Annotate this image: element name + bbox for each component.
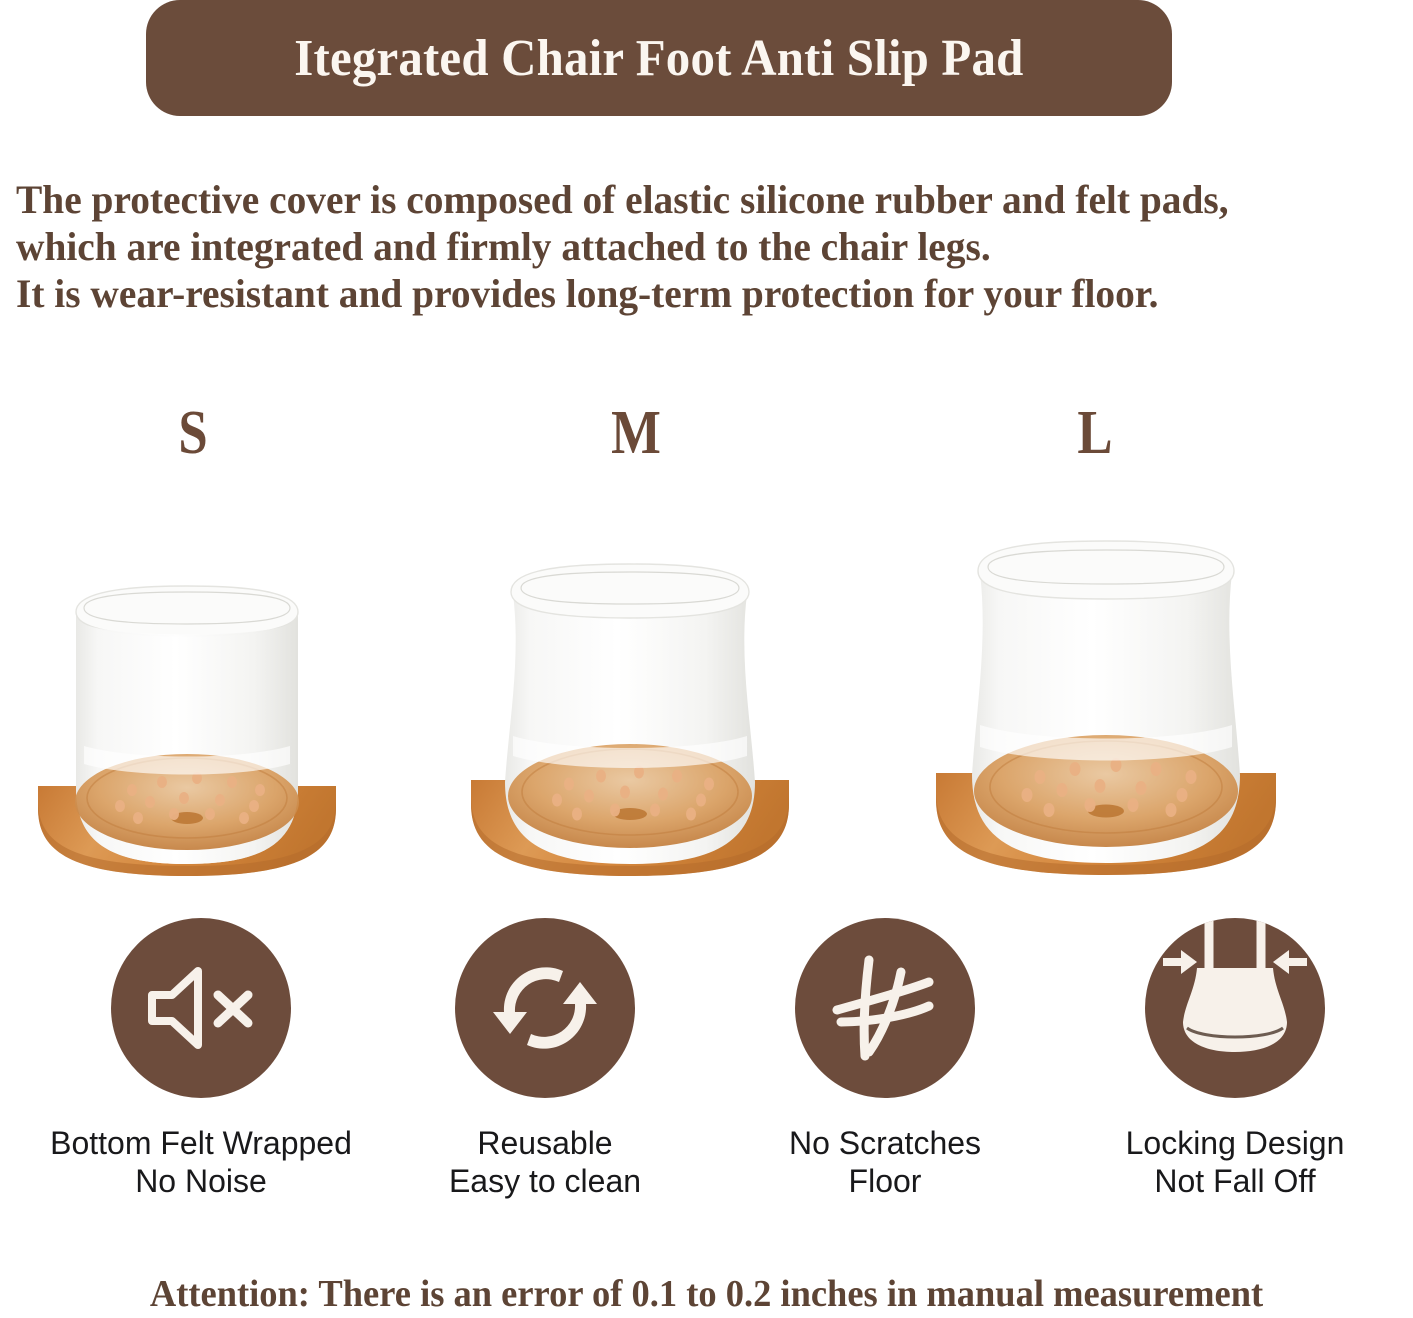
- feature-circle-1: [455, 918, 635, 1098]
- description-line-3: It is wear-resistant and provides long-t…: [16, 270, 1385, 317]
- feature-label-3-line1: Locking Design: [1080, 1124, 1390, 1162]
- feature-circle-3: [1145, 918, 1325, 1098]
- feature-label-1-line1: Reusable: [400, 1124, 690, 1162]
- product-image-row: [0, 480, 1413, 890]
- feature-icon-row: Bottom Felt Wrapped No Noise Reusable Ea…: [0, 918, 1413, 1218]
- locking-grip-icon: [1145, 918, 1325, 1098]
- recycle-arrows-icon: [489, 952, 601, 1064]
- size-label-large: L: [1031, 398, 1159, 469]
- title-banner: Itegrated Chair Foot Anti Slip Pad: [146, 0, 1172, 116]
- speaker-mute-icon: [142, 961, 260, 1055]
- size-label-small: S: [129, 398, 257, 469]
- feature-circle-2: [795, 918, 975, 1098]
- page-title: Itegrated Chair Foot Anti Slip Pad: [294, 29, 1023, 88]
- product-image-small: [32, 550, 342, 890]
- feature-label-0-line1: Bottom Felt Wrapped: [26, 1124, 376, 1162]
- description-line-2: which are integrated and firmly attached…: [16, 223, 1385, 270]
- feature-label-3-line2: Not Fall Off: [1080, 1162, 1390, 1200]
- scratch-marks-icon: [825, 948, 945, 1068]
- feature-reusable: Reusable Easy to clean: [400, 918, 690, 1200]
- size-label-medium: M: [568, 398, 704, 469]
- feature-circle-0: [111, 918, 291, 1098]
- description-line-1: The protective cover is composed of elas…: [16, 176, 1385, 223]
- feature-label-0-line2: No Noise: [26, 1162, 376, 1200]
- attention-note: Attention: There is an error of 0.1 to 0…: [28, 1272, 1384, 1316]
- feature-label-2-line1: No Scratches: [735, 1124, 1035, 1162]
- product-image-medium: [465, 530, 795, 890]
- description-paragraph: The protective cover is composed of elas…: [16, 176, 1385, 317]
- size-label-row: S M L: [0, 398, 1413, 484]
- feature-label-1-line2: Easy to clean: [400, 1162, 690, 1200]
- feature-label-2-line2: Floor: [735, 1162, 1035, 1200]
- feature-bottom-felt-wrapped: Bottom Felt Wrapped No Noise: [26, 918, 376, 1200]
- feature-locking-design: Locking Design Not Fall Off: [1080, 918, 1390, 1200]
- product-image-large: [930, 507, 1282, 890]
- product-infographic: Itegrated Chair Foot Anti Slip Pad The p…: [0, 0, 1413, 1318]
- feature-no-scratches: No Scratches Floor: [735, 918, 1035, 1200]
